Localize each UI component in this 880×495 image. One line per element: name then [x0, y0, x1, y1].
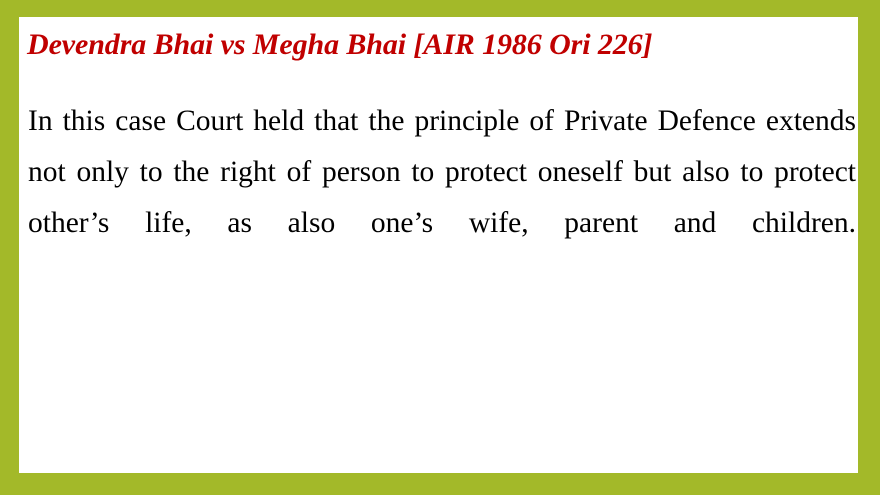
slide-empty-area [28, 257, 856, 462]
slide-title: Devendra Bhai vs Megha Bhai [AIR 1986 Or… [27, 25, 847, 65]
slide-body: Devendra Bhai vs Megha Bhai [AIR 1986 Or… [19, 17, 858, 473]
slide-content-panel: Devendra Bhai vs Megha Bhai [AIR 1986 Or… [19, 17, 858, 473]
slide-border-frame: Devendra Bhai vs Megha Bhai [AIR 1986 Or… [0, 0, 880, 495]
